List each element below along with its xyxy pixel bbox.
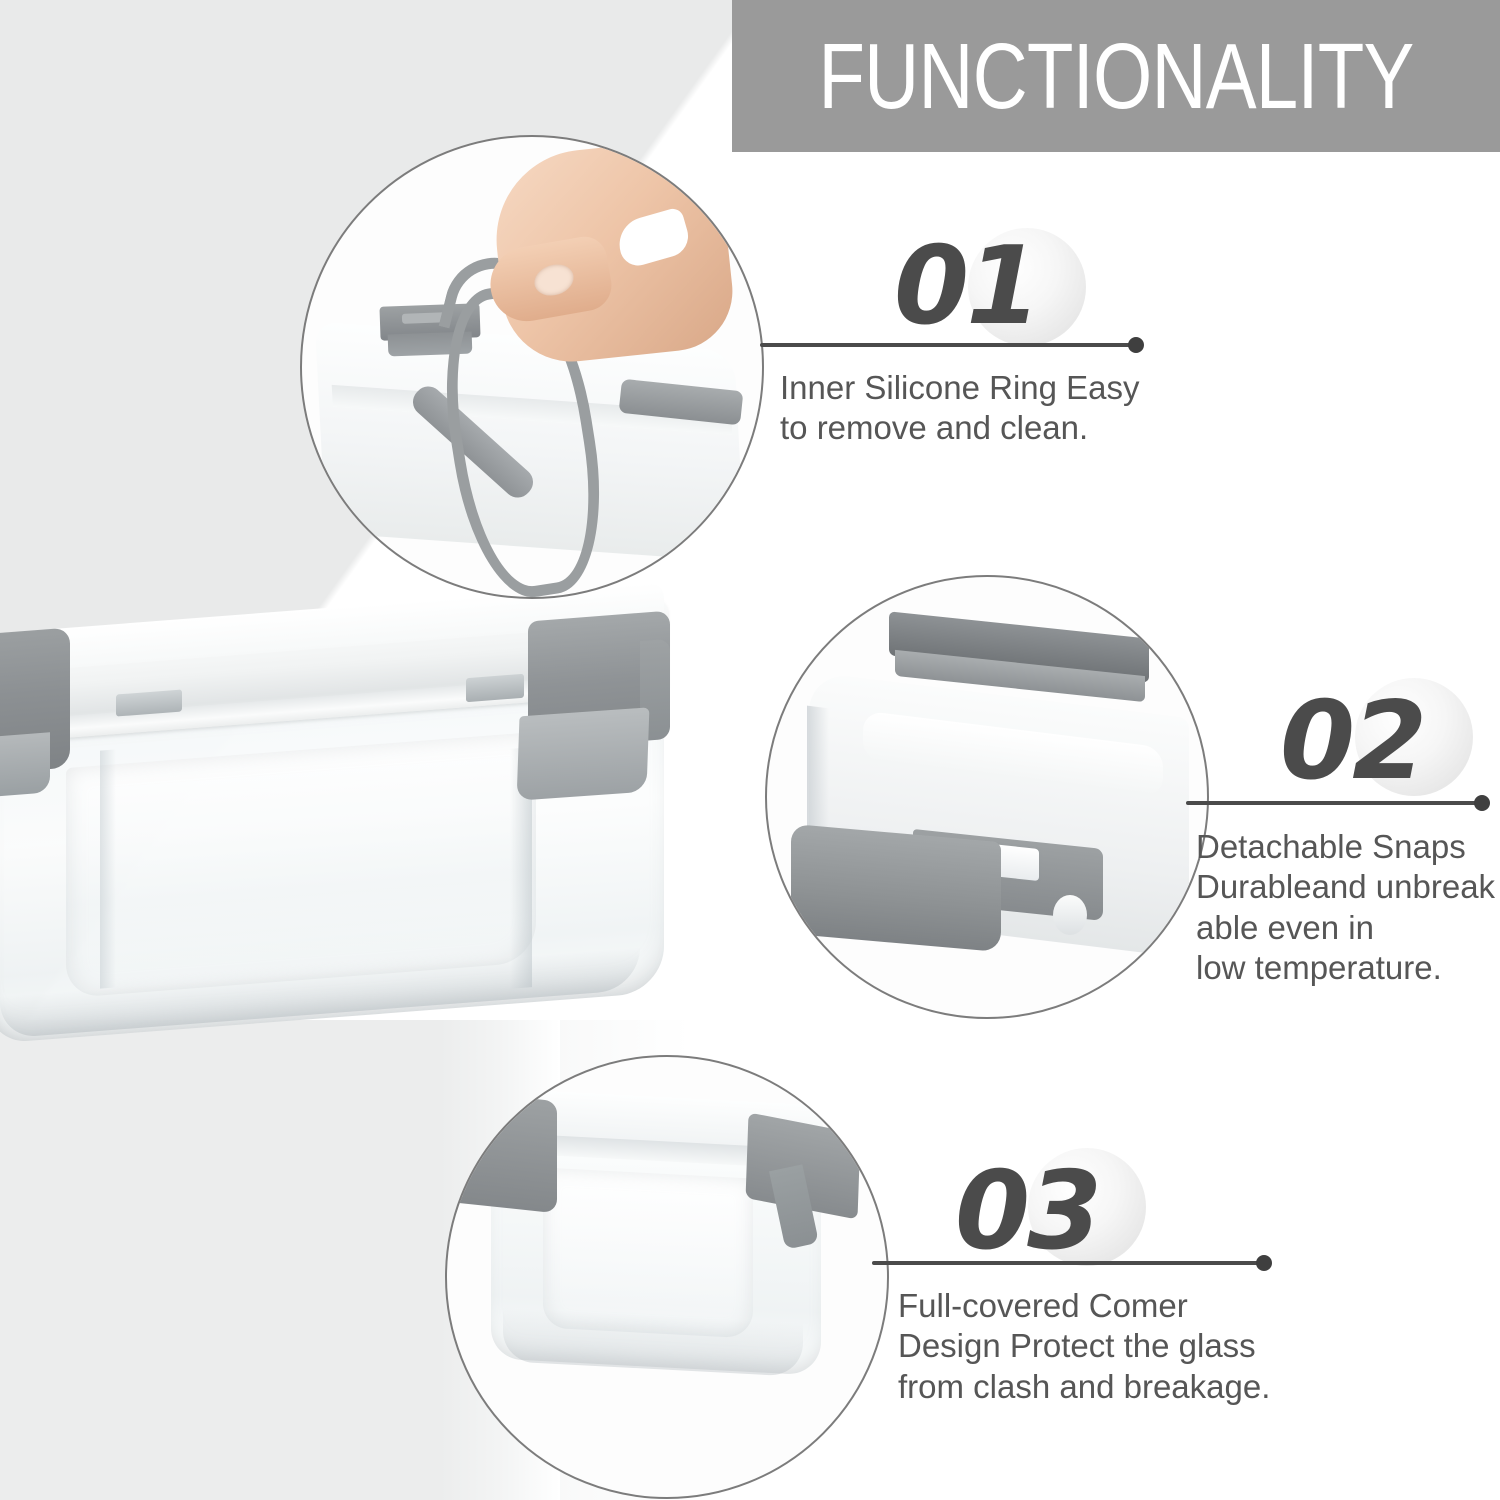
leader-line-01 bbox=[760, 343, 1138, 347]
hero-lid-notch-right bbox=[466, 674, 524, 702]
feature-number-01: 01 bbox=[894, 233, 1038, 341]
feature-text-01: Inner Silicone Ring Easy to remove and c… bbox=[780, 368, 1180, 449]
background-wedge-bottom bbox=[0, 1020, 470, 1500]
leader-line-02 bbox=[1186, 801, 1486, 805]
hero-glass-inner bbox=[66, 732, 536, 998]
hero-product-image bbox=[0, 600, 730, 1070]
page-title: FUNCTIONALITY bbox=[818, 30, 1413, 123]
feature-text-02: Detachable Snaps Durableand unbreak able… bbox=[1196, 827, 1500, 988]
snap-knob bbox=[1053, 895, 1087, 935]
leader-dot-02 bbox=[1474, 795, 1490, 811]
leader-line-03 bbox=[872, 1261, 1268, 1265]
feature-number-02: 02 bbox=[1280, 688, 1424, 796]
header-banner: FUNCTIONALITY bbox=[732, 0, 1500, 152]
hero-glass-edge-left bbox=[100, 749, 116, 988]
detachable-snap bbox=[791, 824, 1001, 952]
feature-photo-03 bbox=[445, 1055, 889, 1499]
leader-dot-01 bbox=[1128, 337, 1144, 353]
feature-photo-02 bbox=[765, 575, 1209, 1019]
feature-photo-01 bbox=[300, 135, 764, 599]
leader-dot-03 bbox=[1256, 1255, 1272, 1271]
corner-guard-left bbox=[445, 1089, 557, 1214]
hero-snap-clip-right-face bbox=[517, 707, 650, 800]
infographic-page: FUNCTIONALITY bbox=[0, 0, 1500, 1500]
feature-text-03: Full-covered Comer Design Protect the gl… bbox=[898, 1286, 1298, 1407]
feature-number-03: 03 bbox=[955, 1158, 1099, 1266]
